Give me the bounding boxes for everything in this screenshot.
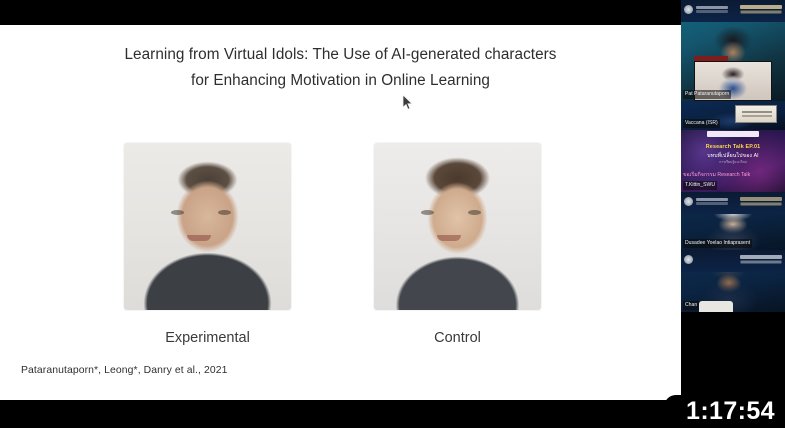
participant-tile-chan[interactable]: Chan — [681, 250, 785, 312]
banner-text-left — [696, 198, 728, 201]
promo-header-bar — [707, 131, 759, 137]
promo-subtitle: บทบที่เปลี่ยนไปของ AI — [681, 152, 785, 160]
stimulus-experimental: Experimental — [124, 143, 291, 346]
participant-name-label: Pat Pataranutaporn — [683, 90, 731, 99]
banner-text-right — [740, 197, 782, 201]
mouse-pointer-icon — [402, 95, 413, 110]
university-logo-icon — [684, 5, 693, 14]
promo-footer-band: ขอเริ่มกิจกรรม Research Talk — [683, 171, 783, 179]
tile-banner — [681, 192, 785, 214]
document-text-lines — [742, 111, 772, 113]
university-logo-icon — [684, 255, 693, 264]
banner-text-right — [740, 5, 782, 9]
participant-tile-dusadee[interactable]: Dusadee Yoelao Intiaprasent — [681, 192, 785, 250]
meeting-recording-viewport: Learning from Virtual Idols: The Use of … — [0, 0, 785, 428]
banner-text-left — [696, 6, 728, 9]
slide-title: Learning from Virtual Idols: The Use of … — [0, 42, 681, 94]
slide-citation: Pataranutaporn*, Leong*, Danry et al., 2… — [21, 365, 227, 376]
stimulus-control: Control — [374, 143, 541, 346]
promo-episode-title: Research Talk EP.01 — [681, 144, 785, 150]
experimental-condition-portrait — [124, 143, 291, 310]
university-logo-icon — [684, 197, 693, 206]
banner-text-right — [740, 255, 782, 259]
stimulus-label-control: Control — [374, 330, 541, 346]
eye-icon — [468, 210, 481, 215]
participant-name-label: Vaccana (ISR) — [683, 119, 720, 128]
tile-banner — [681, 0, 785, 22]
control-condition-portrait — [374, 143, 541, 310]
participant-video-rail: Pat Pataranutaporn Vaccana (ISR) การเรีย… — [681, 0, 785, 428]
recording-elapsed-time: 1:17:54 — [686, 399, 775, 424]
participant-tile-vaccana[interactable]: Vaccana (ISR) — [681, 101, 785, 130]
eye-icon — [218, 210, 231, 215]
stimulus-label-experimental: Experimental — [124, 330, 291, 346]
slide-title-line-1: Learning from Virtual Idols: The Use of … — [125, 46, 557, 63]
letterbox-top-bar — [0, 0, 681, 25]
eye-icon — [421, 210, 434, 215]
promo-kicker: การเรียนรู้แนวใหม่ — [681, 160, 785, 165]
participant-name-label: Dusadee Yoelao Intiaprasent — [683, 239, 752, 248]
shared-document-thumbnail — [735, 105, 777, 123]
participant-name-label: Chan — [683, 301, 699, 310]
mouth-icon — [437, 235, 461, 241]
participant-name-label: T.Kittin_SWU — [683, 181, 717, 190]
desk-object — [699, 301, 733, 312]
participant-tile-kittin-promo-slide[interactable]: การเรียนรู้แนวใหม่ Research Talk EP.01 บ… — [681, 130, 785, 192]
participant-tile-pat[interactable]: Pat Pataranutaporn — [681, 0, 785, 101]
recording-timer: 1:17:54 — [664, 395, 785, 428]
slide-title-line-2: for Enhancing Motivation in Online Learn… — [0, 68, 681, 94]
letterbox-bottom-bar — [0, 400, 681, 428]
tile-banner — [681, 250, 785, 272]
eye-icon — [171, 210, 184, 215]
mouth-icon — [187, 235, 211, 241]
shared-screen-slide[interactable]: Learning from Virtual Idols: The Use of … — [0, 25, 681, 400]
